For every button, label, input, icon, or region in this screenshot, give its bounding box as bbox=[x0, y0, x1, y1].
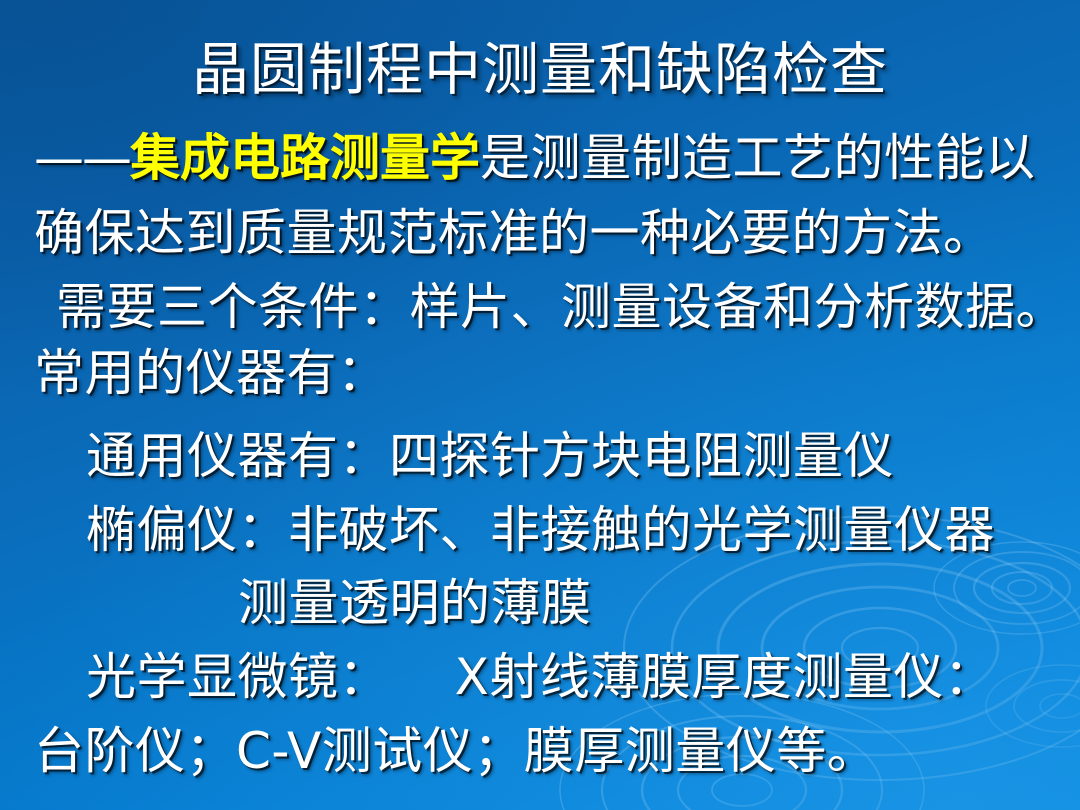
text-line-definition-2: 确保达到质量规范标准的一种必要的方法。 bbox=[34, 205, 994, 261]
accent-term-metrology: 集成电路测量学 bbox=[130, 129, 480, 187]
text-line-others: 台阶仪；C-V测试仪；膜厚测量仪等。 bbox=[34, 723, 877, 779]
text-line-definition-1: ——集成电路测量学是测量制造工艺的性能以 bbox=[34, 130, 1036, 186]
text-line-ellipsometer: 椭偏仪：非破坏、非接触的光学测量仪器 bbox=[86, 502, 995, 558]
text-line-microscope-xray: 光学显微镜： X射线薄膜厚度测量仪： bbox=[86, 649, 994, 705]
text-line-thin-film: 测量透明的薄膜 bbox=[238, 575, 592, 631]
text-definition-1-rest: 是测量制造工艺的性能以 bbox=[480, 129, 1036, 187]
em-dash-prefix: —— bbox=[34, 129, 130, 187]
text-line-general-instruments: 通用仪器有：四探针方块电阻测量仪 bbox=[86, 428, 894, 484]
slide-content: 晶圆制程中测量和缺陷检查 ——集成电路测量学是测量制造工艺的性能以 确保达到质量… bbox=[0, 0, 1080, 810]
text-line-conditions: 需要三个条件：样片、测量设备和分析数据。 bbox=[56, 279, 1066, 335]
text-line-instruments-heading: 常用的仪器有： bbox=[34, 345, 388, 401]
page-title: 晶圆制程中测量和缺陷检查 bbox=[0, 38, 1080, 102]
presentation-slide: 晶圆制程中测量和缺陷检查 ——集成电路测量学是测量制造工艺的性能以 确保达到质量… bbox=[0, 0, 1080, 810]
